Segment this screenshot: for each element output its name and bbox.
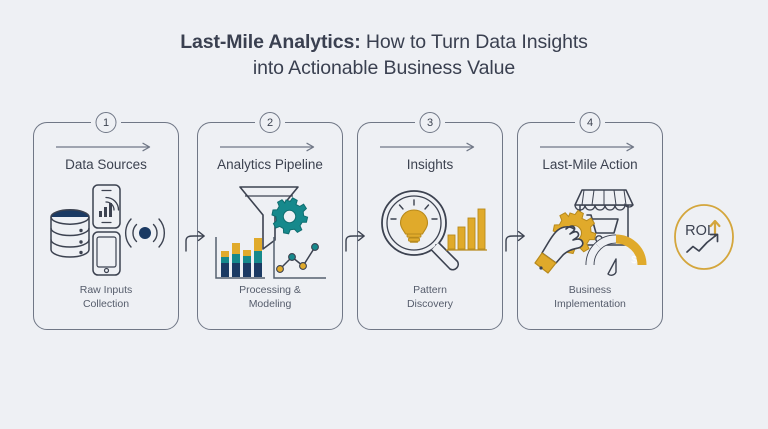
- bar-chart-icon: [446, 209, 487, 250]
- step-caption: Pattern Discovery: [358, 283, 502, 311]
- title-line-2: into Actionable Business Value: [0, 56, 768, 82]
- hand-icon: [535, 226, 583, 273]
- step-caption-line-2: Modeling: [198, 297, 342, 311]
- wireless-signal-icon: [126, 219, 165, 247]
- step-caption-line-2: Implementation: [518, 297, 662, 311]
- step-icon-group-analytics-pipeline: [198, 181, 342, 281]
- step-caption-line-1: Raw Inputs: [34, 283, 178, 297]
- roi-label: ROI: [685, 223, 711, 239]
- line-chart-icon: [274, 237, 326, 278]
- step-caption-line-1: Business: [518, 283, 662, 297]
- step-caption-line-1: Processing &: [198, 283, 342, 297]
- direction-arrow-icon: [379, 142, 481, 152]
- direction-arrow-icon: [219, 142, 321, 152]
- step-icon-group-data-sources: [34, 181, 178, 281]
- step-caption: Processing & Modeling: [198, 283, 342, 311]
- step-caption-line-2: Collection: [34, 297, 178, 311]
- stacked-bar-chart-icon: [216, 237, 265, 278]
- connector-arrow-1-2-icon: [183, 223, 209, 253]
- title-line-1: Last-Mile Analytics: How to Turn Data In…: [0, 30, 768, 56]
- step-number-badge: 3: [420, 112, 441, 133]
- step-number-badge: 2: [260, 112, 281, 133]
- step-title: Last-Mile Action: [518, 157, 662, 172]
- step-title: Analytics Pipeline: [198, 157, 342, 172]
- step-caption-line-2: Discovery: [358, 297, 502, 311]
- step-caption: Raw Inputs Collection: [34, 283, 178, 311]
- step-caption: Business Implementation: [518, 283, 662, 311]
- process-flow: 1 Data Sources: [33, 122, 735, 330]
- step-title: Data Sources: [34, 157, 178, 172]
- smartphone-signal-icon: [93, 185, 120, 228]
- title-strong: Last-Mile Analytics:: [180, 31, 360, 53]
- roi-badge[interactable]: ROI: [673, 203, 735, 271]
- connector-arrow-2-3-icon: [343, 223, 369, 253]
- smartphone-icon: [93, 232, 120, 275]
- step-card-data-sources[interactable]: 1 Data Sources: [33, 122, 179, 330]
- connector-arrow-3-4-icon: [503, 223, 529, 253]
- title-light: How to Turn Data Insights: [361, 31, 588, 53]
- step-card-analytics-pipeline[interactable]: 2 Analytics Pipeline: [197, 122, 343, 330]
- step-number-badge: 4: [580, 112, 601, 133]
- direction-arrow-icon: [539, 142, 641, 152]
- step-card-insights[interactable]: 3 Insights: [357, 122, 503, 330]
- dollar-sign-icon: $: [631, 255, 637, 266]
- database-icon: [51, 210, 89, 257]
- direction-arrow-icon: [55, 142, 157, 152]
- page-title: Last-Mile Analytics: How to Turn Data In…: [0, 30, 768, 81]
- step-icon-group-insights: [358, 181, 502, 281]
- step-card-last-mile-action[interactable]: 4 Last-Mile Action: [517, 122, 663, 330]
- step-caption-line-1: Pattern: [358, 283, 502, 297]
- step-icon-group-last-mile-action: $: [518, 181, 662, 281]
- infographic-canvas: Last-Mile Analytics: How to Turn Data In…: [0, 0, 768, 429]
- step-number-badge: 1: [96, 112, 117, 133]
- step-title: Insights: [358, 157, 502, 172]
